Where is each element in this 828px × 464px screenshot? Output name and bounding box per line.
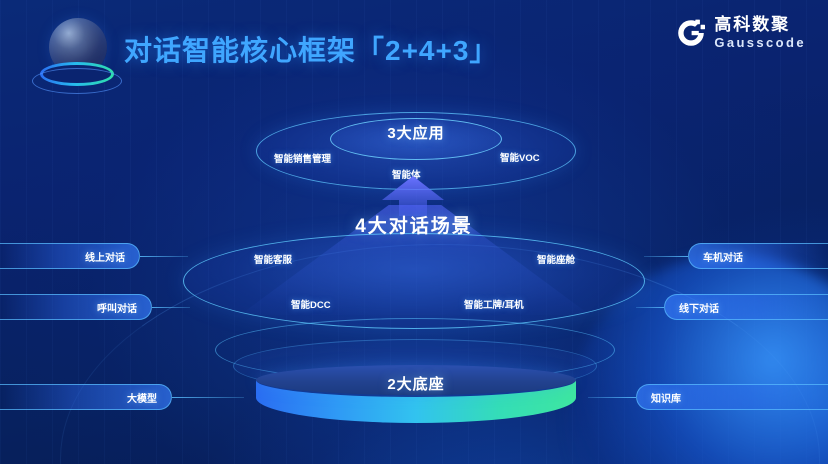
application-item-voc[interactable]: 智能VOC <box>500 150 540 164</box>
scenario-item-customer-service[interactable]: 智能客服 <box>254 252 292 266</box>
tag-online-dialogue[interactable]: 线上对话 <box>0 243 140 269</box>
scenario-item-badge-headset[interactable]: 智能工牌/耳机 <box>464 297 524 311</box>
scenario-item-dcc[interactable]: 智能DCC <box>291 297 331 311</box>
foundation-base: 2大底座 <box>256 367 576 423</box>
foundation-layer-title: 2大底座 <box>256 373 576 394</box>
connector-line-knowledge-base <box>588 397 636 398</box>
connector-line-call-dialogue <box>152 307 190 308</box>
slide-canvas: 对话智能核心框架「2+4+3」 高科数聚 Gausscode 3大应用 智能销售… <box>0 0 828 464</box>
applications-layer-title: 3大应用 <box>330 122 502 143</box>
connector-line-offline-dialogue <box>636 307 664 308</box>
connector-line-large-model <box>172 397 244 398</box>
tag-knowledge-base[interactable]: 知识库 <box>636 384 828 410</box>
connector-line-online-dialogue <box>140 256 188 257</box>
tag-invehicle-dialogue[interactable]: 车机对话 <box>688 243 828 269</box>
scenario-item-cockpit[interactable]: 智能座舱 <box>537 252 575 266</box>
framework-diagram: 3大应用 智能销售管理 智能体 智能VOC 4大对话场景 智能客服 智能座舱 智… <box>0 0 828 464</box>
tag-large-model[interactable]: 大模型 <box>0 384 172 410</box>
scenarios-layer-title: 4大对话场景 <box>283 211 545 238</box>
tag-call-dialogue[interactable]: 呼叫对话 <box>0 294 152 320</box>
application-item-sales[interactable]: 智能销售管理 <box>274 151 331 165</box>
connector-line-invehicle-dialogue <box>644 256 688 257</box>
scenarios-ring <box>183 233 645 329</box>
tag-offline-dialogue[interactable]: 线下对话 <box>664 294 828 320</box>
